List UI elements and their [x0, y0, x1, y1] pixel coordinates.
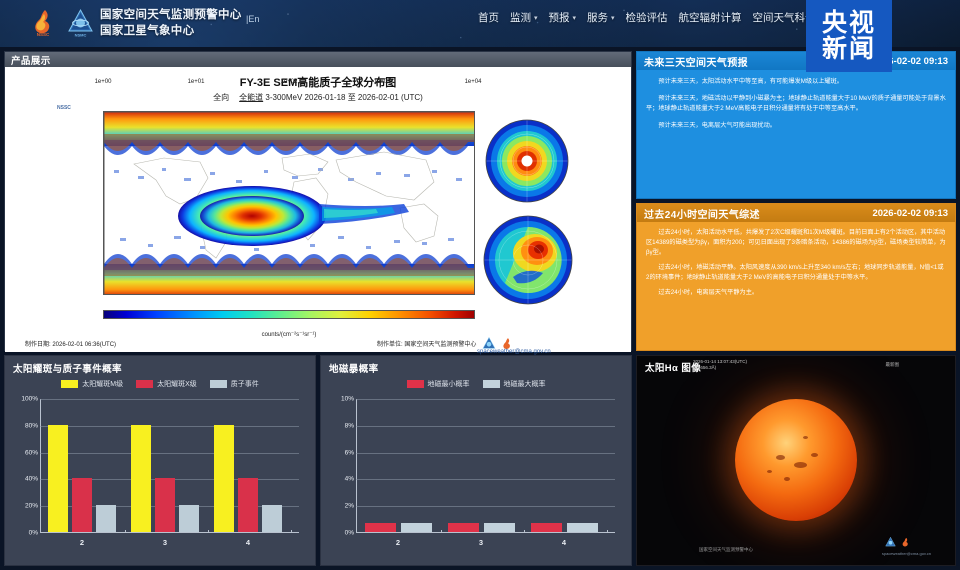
product-panel-header: 产品展示: [5, 52, 631, 67]
bar-flare-m[interactable]: [214, 425, 234, 532]
review-paragraph-3: 过去24小时，电离层天气平静为主。: [646, 288, 946, 298]
bottom-strip: [0, 566, 960, 570]
bar-proton[interactable]: [262, 505, 282, 532]
forecast-paragraph-3: 预计未来三天，电离层大气可能出现扰动。: [646, 121, 946, 132]
legend-swatch-icon: [483, 380, 500, 388]
legend-swatch-icon: [210, 380, 227, 388]
legend-swatch-icon: [407, 380, 424, 388]
sunspot: [767, 470, 772, 473]
chevron-down-icon: ▾: [573, 14, 577, 22]
nav-item-verification[interactable]: 检验评估: [626, 10, 668, 25]
logo-group[interactable]: NSSC NSMC: [28, 7, 96, 38]
legend-item-proton-event[interactable]: 质子事件: [210, 379, 259, 389]
flare-xtick: 4: [246, 538, 250, 547]
nav-item-monitoring[interactable]: 监测 ▾: [510, 10, 538, 25]
colorbar-tick: 1e+00: [95, 79, 112, 85]
colorbar-tick: 1e+02: [281, 79, 298, 85]
product-display-panel: 产品展示 FY-3E SEM高能质子全球分布图 全向全能道 3-300MeV 2…: [4, 51, 632, 351]
sunspot: [784, 477, 790, 481]
legend-item-geomag-max[interactable]: 地磁最大概率: [483, 379, 546, 389]
geomag-chart-legend: 地磁最小概率 地磁最大概率: [321, 379, 631, 389]
footer-date-value: 2026-02-01 06:36(UTC): [52, 342, 116, 348]
geomag-ytick: 4%: [331, 476, 354, 483]
bar-geomag-min[interactable]: [448, 523, 479, 532]
footer-org-label: 制作单位:: [377, 342, 403, 348]
gridline: [356, 426, 615, 427]
chart-footer-org: 制作单位: 国家空间天气监测预警中心: [377, 339, 476, 348]
lang-en-label: En: [248, 14, 259, 24]
flare-chart-plot[interactable]: 0% 20% 40% 60% 80% 100% 2 3 4: [15, 399, 305, 549]
x-axis-line: [356, 532, 615, 533]
past-24h-review-panel: 过去24小时空间天气综述 2026-02-02 09:13 过去24小时，太阳活…: [636, 203, 956, 351]
colorbar-tick: 1e+04: [465, 79, 482, 85]
x-axis-line: [40, 532, 299, 533]
geomag-ytick: 0%: [331, 530, 354, 537]
x-axis-tick: [524, 530, 525, 533]
nav-label: 服务: [587, 10, 608, 25]
legend-item-flare-m[interactable]: 太阳耀斑M级: [61, 379, 123, 389]
geomag-ytick: 8%: [331, 422, 354, 429]
gridline: [356, 506, 615, 507]
flare-chart-title: 太阳耀斑与质子事件概率: [5, 356, 315, 375]
x-axis-tick: [291, 530, 292, 533]
legend-swatch-icon: [61, 380, 78, 388]
bar-flare-m[interactable]: [48, 425, 68, 532]
bar-geomag-min[interactable]: [531, 523, 562, 532]
bar-flare-m[interactable]: [131, 425, 151, 532]
nav-item-forecast[interactable]: 预报 ▾: [549, 10, 577, 25]
flare-xtick: 3: [163, 538, 167, 547]
language-switch[interactable]: |En: [246, 14, 259, 24]
solar-footer-logos: [884, 536, 911, 549]
watermark-line1: 央视: [822, 11, 876, 36]
nssc-flame-logo-icon: [900, 536, 911, 549]
cctv-news-watermark: 央视 新闻: [806, 0, 892, 72]
colorbar-tick: 1e+01: [188, 79, 205, 85]
chart-sub-energy: 3-300MeV: [265, 93, 302, 102]
legend-label: 太阳耀斑X级: [157, 379, 197, 389]
bar-proton[interactable]: [96, 505, 116, 532]
bar-geomag-max[interactable]: [484, 523, 515, 532]
org-name-line1: 国家空间天气监测预警中心: [100, 7, 242, 23]
svg-text:NSSC: NSSC: [37, 32, 50, 37]
legend-swatch-icon: [136, 380, 153, 388]
bar-flare-x[interactable]: [72, 478, 92, 532]
sunspot: [776, 455, 785, 460]
gridline: [40, 453, 299, 454]
sun-disk-image[interactable]: [735, 399, 857, 521]
forecast-paragraph-1: 预计未来三天，太阳活动水平中等至高，有可能爆发M级以上耀斑。: [646, 77, 946, 88]
chevron-down-icon: ▾: [611, 14, 615, 22]
nav-item-aviation-radiation[interactable]: 航空辐射计算: [679, 10, 742, 25]
svg-text:NSMC: NSMC: [75, 33, 87, 38]
solar-stamp-line2: Hα(656.3Å): [693, 365, 747, 371]
y-axis-line: [356, 399, 357, 533]
geomag-ytick: 2%: [331, 503, 354, 510]
geomag-ytick: 6%: [331, 449, 354, 456]
chart-sub-mode: 全向: [213, 93, 229, 102]
nsmc-satellite-logo-icon: NSMC: [65, 7, 96, 38]
solar-image-timestamp: 2026-01-14 13:07:43(UTC) Hα(656.3Å): [693, 359, 747, 371]
legend-item-geomag-min[interactable]: 地磁最小概率: [407, 379, 470, 389]
y-axis-line: [40, 399, 41, 533]
nav-label: 首页: [478, 10, 499, 25]
global-proton-map[interactable]: 90°N 60°N 30°N 0° 30°S 60°S 90°S 180° 15…: [103, 111, 475, 295]
flare-ytick: 60%: [15, 449, 38, 456]
solar-image-right-label: 最新图: [886, 362, 900, 368]
gridline: [356, 453, 615, 454]
nav-item-service[interactable]: 服务 ▾: [587, 10, 615, 25]
gridline: [40, 399, 299, 400]
nav-label: 检验评估: [626, 10, 668, 25]
nav-label: 监测: [510, 10, 531, 25]
geomag-xtick: 3: [479, 538, 483, 547]
colorbar: [103, 310, 475, 319]
geomag-xtick: 2: [396, 538, 400, 547]
watermark-line2: 新闻: [822, 37, 876, 62]
nav-label: 预报: [549, 10, 570, 25]
solar-halpha-image-panel: 太阳Hα 图像 2026-01-14 13:07:43(UTC) Hα(656.…: [636, 355, 956, 566]
chart-watermark: NSSC: [57, 105, 71, 111]
product-chart-area[interactable]: FY-3E SEM高能质子全球分布图 全向全能道 3-300MeV 2026-0…: [5, 67, 631, 352]
legend-label: 地磁最小概率: [428, 379, 470, 389]
bar-flare-x[interactable]: [155, 478, 175, 532]
flare-chart-legend: 太阳耀斑M级 太阳耀斑X级 质子事件: [5, 379, 315, 389]
three-day-forecast-panel: 未来三天空间天气预报 2026-02-02 09:13 预计未来三天，太阳活动水…: [636, 51, 956, 199]
geomag-xtick: 4: [562, 538, 566, 547]
nav-label: 航空辐射计算: [679, 10, 742, 25]
review-datetime: 2026-02-02 09:13: [872, 208, 948, 219]
chart-sub-period: 2026-01-18 至 2026-02-01 (UTC): [305, 93, 423, 102]
review-title: 过去24小时空间天气综述: [644, 206, 760, 221]
sunspot: [811, 453, 818, 457]
sunspot: [794, 462, 807, 468]
flare-ytick: 100%: [15, 396, 38, 403]
flare-ytick: 0%: [15, 530, 38, 537]
solar-footer-org: 国家空间天气监测预警中心: [699, 547, 753, 553]
flare-ytick: 40%: [15, 476, 38, 483]
forecast-body: 预计未来三天，太阳活动水平中等至高，有可能爆发M级以上耀斑。 预计未来三天，地磁…: [637, 70, 955, 131]
nav-item-home[interactable]: 首页: [478, 10, 499, 25]
flare-xtick: 2: [80, 538, 84, 547]
bar-proton[interactable]: [179, 505, 199, 532]
legend-label: 地磁最大概率: [504, 379, 546, 389]
colorbar-tick: 1e+03: [374, 79, 391, 85]
footer-org-value: 国家空间天气监测预警中心: [404, 342, 476, 348]
nsmc-satellite-logo-icon: [884, 536, 897, 549]
forecast-title: 未来三天空间天气预报: [644, 54, 748, 69]
sunspot: [803, 436, 808, 439]
review-paragraph-2: 过去24小时，地磁活动平静。太阳风速度从390 km/s上升至340 km/s左…: [646, 263, 946, 283]
chart-subtitle: 全向全能道 3-300MeV 2026-01-18 至 2026-02-01 (…: [5, 92, 631, 103]
legend-label: 太阳耀斑M级: [82, 379, 123, 389]
review-body: 过去24小时，太阳活动水平低，共爆发了2次C级耀斑和1次M级耀斑。目前日面上有2…: [637, 222, 955, 298]
forecast-panel-header: 未来三天空间天气预报 2026-02-02 09:13: [637, 52, 955, 70]
x-axis-tick: [607, 530, 608, 533]
colorbar-label: counts/(cm⁻²s⁻¹sr⁻¹): [262, 331, 317, 338]
page-root: NSSC NSMC 国家空间天气监测预警中心 国家卫星气象中心 |En: [0, 0, 960, 570]
flare-ytick: 80%: [15, 422, 38, 429]
chart-sub-channel: 全能道: [239, 93, 263, 102]
org-name-line2: 国家卫星气象中心: [100, 23, 242, 39]
geomag-ytick: 10%: [331, 396, 354, 403]
x-axis-tick: [441, 530, 442, 533]
bar-flare-x[interactable]: [238, 478, 258, 532]
geomag-chart-plot[interactable]: 0% 2% 4% 6% 8% 10% 2 3 4: [331, 399, 621, 549]
product-panel-title: 产品展示: [11, 53, 51, 67]
review-panel-header: 过去24小时空间天气综述 2026-02-02 09:13: [637, 204, 955, 222]
legend-label: 质子事件: [231, 379, 259, 389]
organization-names: 国家空间天气监测预警中心 国家卫星气象中心: [100, 7, 242, 39]
forecast-paragraph-2: 预计未来三天，地磁活动以平静到小磁暴为主；地球静止轨道能量大于10 MeV的质子…: [646, 94, 946, 115]
x-axis-tick: [125, 530, 126, 533]
geomagnetic-storm-panel: 地磁暴概率 地磁最小概率 地磁最大概率 0% 2% 4% 6% 8%: [320, 355, 632, 566]
x-axis-tick: [208, 530, 209, 533]
flare-probability-panel: 太阳耀斑与质子事件概率 太阳耀斑M级 太阳耀斑X级 质子事件 0%: [4, 355, 316, 566]
bar-geomag-max[interactable]: [567, 523, 598, 532]
solar-footer-email: spaceweather@cma.gov.cn: [882, 551, 931, 556]
north-polar-plot[interactable]: [485, 119, 569, 203]
gridline: [356, 399, 615, 400]
flare-ytick: 20%: [15, 503, 38, 510]
bar-geomag-min[interactable]: [365, 523, 396, 532]
chart-footer-date: 制作日期: 2026-02-01 06:36(UTC): [25, 339, 116, 348]
geomag-chart-title: 地磁暴概率: [321, 356, 631, 375]
south-polar-plot[interactable]: [483, 215, 573, 305]
review-paragraph-1: 过去24小时，太阳活动水平低，共爆发了2次C级耀斑和1次M级耀斑。目前日面上有2…: [646, 228, 946, 258]
gridline: [356, 479, 615, 480]
bar-geomag-max[interactable]: [401, 523, 432, 532]
legend-item-flare-x[interactable]: 太阳耀斑X级: [136, 379, 197, 389]
footer-date-label: 制作日期:: [25, 342, 51, 348]
gridline: [40, 426, 299, 427]
chevron-down-icon: ▾: [534, 14, 538, 22]
nssc-flame-logo-icon: NSSC: [28, 7, 58, 38]
